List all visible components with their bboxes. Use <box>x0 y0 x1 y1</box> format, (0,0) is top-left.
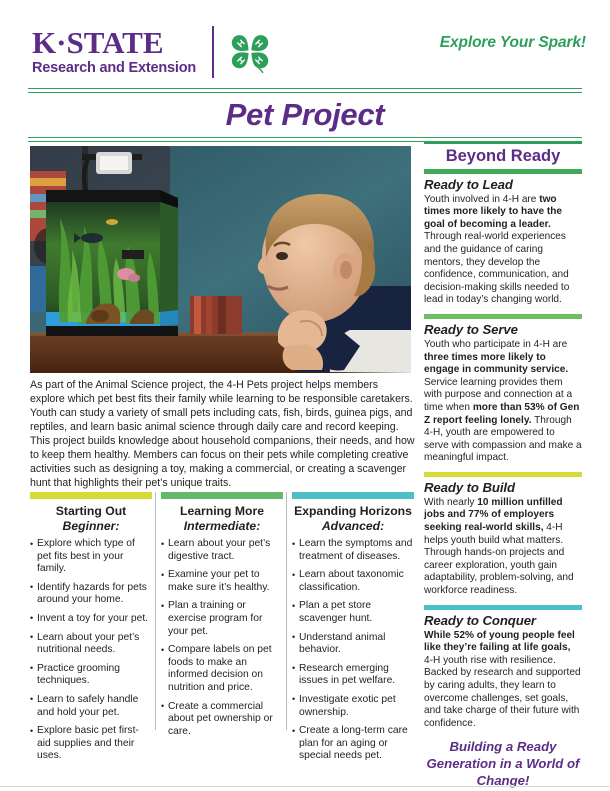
kstate-logo-subtext: Research and Extension <box>32 61 196 77</box>
panel-ready-to-serve: Ready to Serve Youth who participate in … <box>424 314 582 465</box>
list-item: Compare labels on pet foods to make an i… <box>161 644 283 694</box>
panel-head-serve: Ready to Serve <box>424 321 582 338</box>
panel-head-conquer: Ready to Conquer <box>424 612 582 629</box>
list-item: Learn about your pet’s nutritional needs… <box>30 632 152 657</box>
level-tier-intermediate: Intermediate: <box>161 519 283 534</box>
level-bar-intermediate <box>161 492 283 499</box>
panel-head-lead: Ready to Lead <box>424 176 582 193</box>
level-column-beginner: Starting Out Beginner: Explore which typ… <box>30 492 152 769</box>
panel-head-build: Ready to Build <box>424 479 582 496</box>
hero-photo <box>30 146 411 373</box>
poster-page: K·STATE Research and Extension H H <box>0 0 610 791</box>
sidebar-title: Beyond Ready <box>424 144 582 169</box>
kstate-logo-text: K·STATE <box>32 27 164 58</box>
level-heading-advanced: Expanding Horizons Advanced: <box>292 504 414 533</box>
level-name-advanced: Expanding Horizons <box>292 504 414 519</box>
list-item: Research emerging issues in pet welfare. <box>292 663 414 688</box>
list-item: Learn about taxonomic classification. <box>292 569 414 594</box>
list-item: Plan a pet store scavenger hunt. <box>292 600 414 625</box>
panel-bar-conquer <box>424 605 582 610</box>
list-item: Learn the symptoms and treatment of dise… <box>292 538 414 563</box>
level-tier-advanced: Advanced: <box>292 519 414 534</box>
kstate-brand: K·STATE Research and Extension H H <box>32 26 273 78</box>
list-item: Explore basic pet first-aid supplies and… <box>30 725 152 763</box>
list-item: Create a long-term care plan for an agin… <box>292 725 414 763</box>
panel-ready-to-build: Ready to Build With nearly 10 million un… <box>424 472 582 598</box>
column-separator-1 <box>155 492 156 730</box>
list-item: Learn to safely handle and hold your pet… <box>30 694 152 719</box>
level-heading-beginner: Starting Out Beginner: <box>30 504 152 533</box>
list-item: Understand animal behavior. <box>292 632 414 657</box>
level-column-intermediate: Learning More Intermediate: Learn about … <box>161 492 283 769</box>
level-tier-beginner: Beginner: <box>30 519 152 534</box>
list-item: Learn about your pet’s digestive tract. <box>161 538 283 563</box>
title-band: Pet Project <box>28 88 582 142</box>
list-item: Explore which type of pet fits best in y… <box>30 538 152 576</box>
page-header: K·STATE Research and Extension H H <box>0 0 610 86</box>
four-h-clover-icon: H H H H <box>227 29 273 75</box>
panel-body-serve: Youth who participate in 4-H are three t… <box>424 339 582 465</box>
page-title: Pet Project <box>28 93 582 137</box>
column-separator-2 <box>286 492 287 730</box>
list-item: Invent a toy for your pet. <box>30 613 152 626</box>
panel-body-conquer: While 52% of young people feel like they… <box>424 630 582 731</box>
level-column-advanced: Expanding Horizons Advanced: Learn the s… <box>292 492 414 769</box>
level-list-advanced: Learn the symptoms and treatment of dise… <box>292 538 414 763</box>
kstate-wordmark: K·STATE Research and Extension <box>32 27 196 77</box>
footer-rule <box>0 786 610 787</box>
list-item: Investigate exotic pet ownership. <box>292 694 414 719</box>
list-item: Practice grooming techniques. <box>30 663 152 688</box>
level-bar-beginner <box>30 492 152 499</box>
panel-body-lead: Youth involved in 4-H are two times more… <box>424 194 582 307</box>
list-item: Examine your pet to make sure it’s healt… <box>161 569 283 594</box>
brand-divider <box>212 26 214 78</box>
level-list-intermediate: Learn about your pet’s digestive tract.E… <box>161 538 283 738</box>
intro-paragraph: As part of the Animal Science project, t… <box>30 378 415 490</box>
levels-section: Starting Out Beginner: Explore which typ… <box>30 492 415 769</box>
panel-ready-to-lead: Ready to Lead Youth involved in 4-H are … <box>424 169 582 307</box>
panel-bar-serve <box>424 314 582 319</box>
panel-bar-lead <box>424 169 582 174</box>
level-name-intermediate: Learning More <box>161 504 283 519</box>
level-heading-intermediate: Learning More Intermediate: <box>161 504 283 533</box>
list-item: Plan a training or exercise program for … <box>161 600 283 638</box>
list-item: Create a commercial about pet ownership … <box>161 701 283 739</box>
panel-bar-build <box>424 472 582 477</box>
level-name-beginner: Starting Out <box>30 504 152 519</box>
list-item: Identify hazards for pets around your ho… <box>30 582 152 607</box>
panel-ready-to-conquer: Ready to Conquer While 52% of young peop… <box>424 605 582 731</box>
closing-slogan: Building a Ready Generation in a World o… <box>424 738 582 789</box>
beyond-ready-sidebar: Beyond Ready Ready to Lead Youth involve… <box>424 142 582 789</box>
level-list-beginner: Explore which type of pet fits best in y… <box>30 538 152 763</box>
panel-body-build: With nearly 10 million unfilled jobs and… <box>424 497 582 598</box>
tagline: Explore Your Spark! <box>440 34 586 52</box>
level-bar-advanced <box>292 492 414 499</box>
